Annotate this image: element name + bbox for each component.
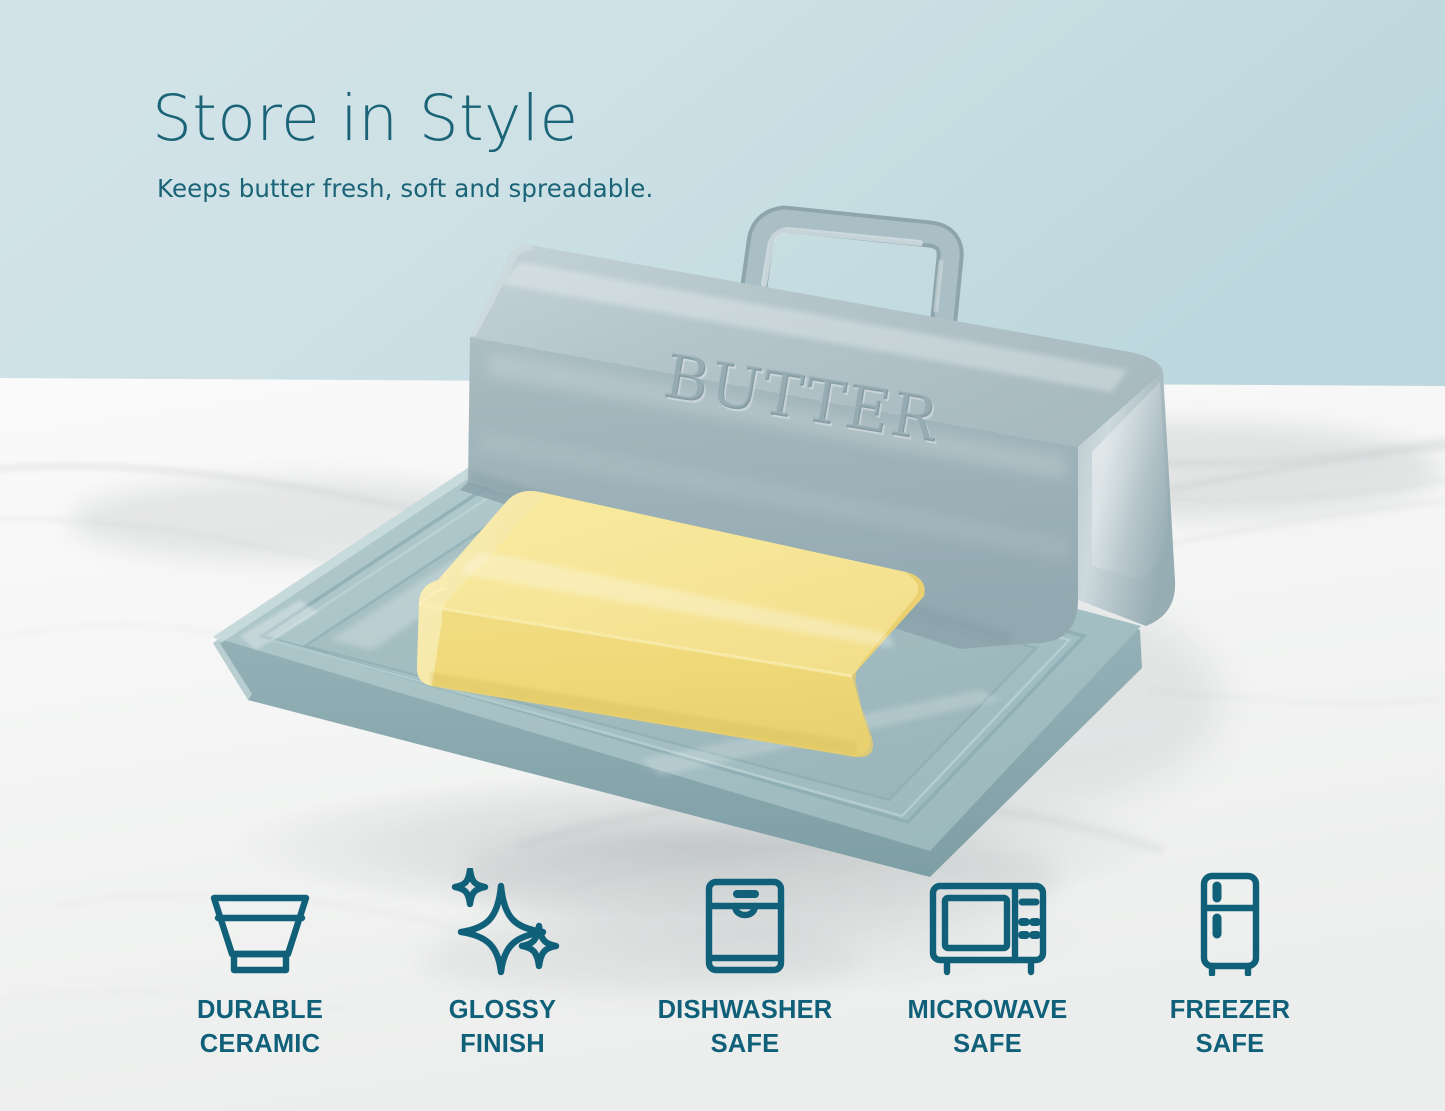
feature-item-freezer-safe: FREEZER SAFE [1120, 880, 1340, 1061]
feature-label: DISHWASHER SAFE [658, 994, 833, 1061]
headline-block: Store in Style Keeps butter fresh, soft … [152, 86, 912, 203]
feature-item-microwave-safe: MICROWAVE SAFE [878, 880, 1098, 1061]
feature-label: FREEZER SAFE [1170, 994, 1290, 1061]
feature-label: DURABLE CERAMIC [197, 994, 323, 1061]
dishwasher-icon [693, 880, 797, 976]
feature-label: GLOSSY FINISH [449, 994, 556, 1061]
feature-item-durable-ceramic: DURABLE CERAMIC [150, 880, 370, 1061]
feature-list: DURABLE CERAMIC GLOSSY FINISH [150, 880, 1340, 1080]
product-marketing-image: BUTTER BUTTER BUTTER [0, 0, 1445, 1111]
freezer-icon [1190, 880, 1270, 976]
page-title: Store in Style [152, 86, 912, 152]
feature-item-glossy-finish: GLOSSY FINISH [393, 880, 613, 1061]
sparkle-icon [439, 880, 567, 976]
bowl-icon [196, 880, 324, 976]
feature-item-dishwasher-safe: DISHWASHER SAFE [635, 880, 855, 1061]
page-subtitle: Keeps butter fresh, soft and spreadable. [152, 152, 912, 203]
feature-label: MICROWAVE SAFE [908, 994, 1068, 1061]
microwave-icon [925, 880, 1051, 976]
